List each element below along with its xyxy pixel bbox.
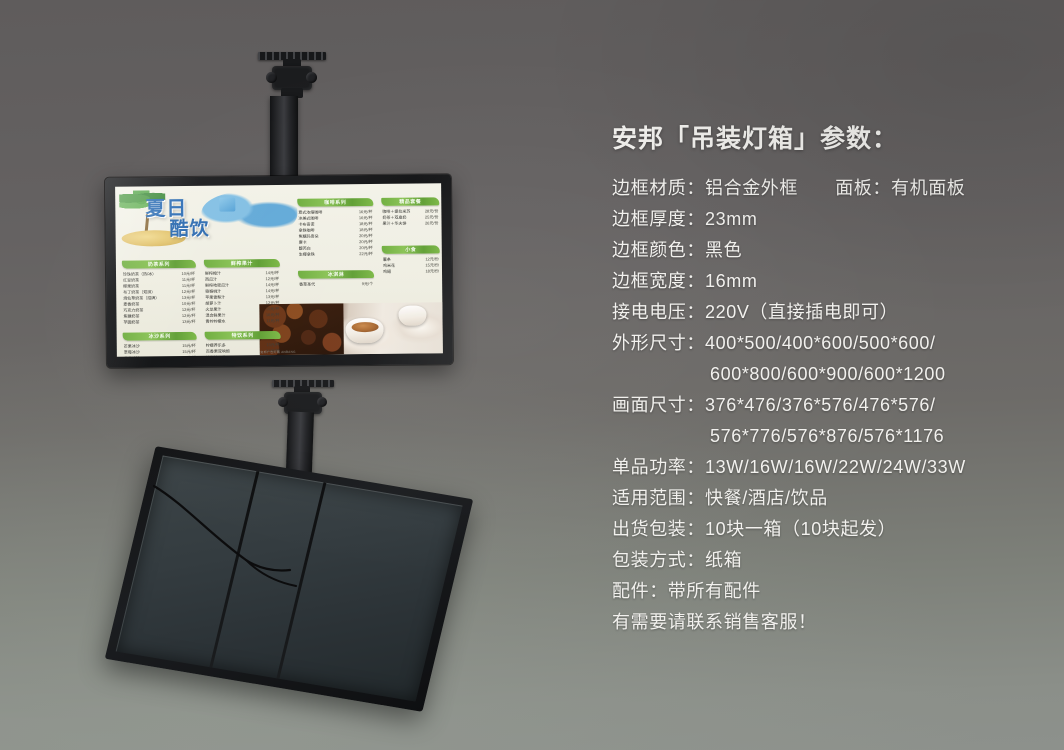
menu-section-heading-text: 奶茶系列 (148, 261, 170, 268)
menu-section-1: 鲜榨果汁 鲜榨橙汁14元/杯西瓜汁12元/杯鲜榨哈密瓜汁14元/杯猕猴桃汁14元… (204, 259, 281, 325)
menu-title-line1: 夏日 (145, 196, 187, 220)
menu-board-artwork: 夏日 酷饮 奶茶系列 珍珠奶茶（热/冰）10元/杯红豆奶茶11元/杯椰果奶茶11… (115, 183, 443, 356)
spec-line: 有需要请联系销售客服！ (612, 607, 1042, 638)
menu-item-row: 鸡翅18元/份 (382, 268, 440, 275)
menu-items-4: 意式浓缩咖啡16元/杯冰美式咖啡16元/杯卡布奇诺18元/杯拿铁咖啡18元/杯焦… (297, 209, 373, 258)
menu-section-2: 冰沙系列 芒果冰沙15元/杯草莓冰沙15元/杯蓝莓冰沙16元/杯抹茶红豆冰沙16… (123, 332, 197, 357)
spec-line-list: 边框材质：铝合金外框 面板：有机面板边框厚度：23mm边框颜色：黑色边框宽度：1… (612, 173, 1042, 638)
spec-title: 安邦「吊装灯箱」参数： (612, 124, 1042, 154)
spec-line: 边框颜色：黑色 (612, 235, 1042, 266)
menu-section-heading-text: 鲜榨果汁 (231, 260, 253, 267)
spec-line: 接电电压：220V（直接插电即可） (612, 297, 1042, 328)
spec-line: 单品功率：13W/16W/16W/22W/24W/33W (612, 452, 1042, 483)
menu-title-line2: 酷饮 (169, 220, 209, 239)
menu-item-name: 青柠柠檬水 (205, 319, 225, 325)
mount-pole-upper (270, 96, 298, 182)
menu-item-price: 18元/份 (425, 268, 439, 274)
light-box-display-front: 夏日 酷饮 奶茶系列 珍珠奶茶（热/冰）10元/杯红豆奶茶11元/杯椰果奶茶11… (105, 174, 453, 368)
menu-items-5: 咖啡＋提拉米苏28元/份奶茶＋双皮奶25元/份果汁＋华夫饼26元/份 (381, 208, 439, 227)
menu-section-heading: 特饮系列 (205, 331, 281, 340)
menu-item-price: 9元/个 (362, 281, 373, 287)
menu-section-heading-text: 特饮系列 (232, 332, 254, 339)
coffee-photo (260, 302, 443, 355)
menu-item-price: 11元/杯 (266, 318, 279, 324)
menu-item-name: 蜂蜜柚子茶 (206, 355, 226, 357)
coffee-cup-front (346, 318, 384, 343)
spec-text-panel: 安邦「吊装灯箱」参数： 边框材质：铝合金外框 面板：有机面板边框厚度：23mm边… (612, 124, 1042, 638)
menu-section-heading-text: 冰淇淋 (328, 271, 345, 278)
menu-item-price: 16元/杯 (182, 355, 196, 357)
menu-items-0: 珍珠奶茶（热/冰）10元/杯红豆奶茶11元/杯椰果奶茶11元/杯布丁奶茶（双拼）… (122, 271, 197, 326)
spec-line: 边框宽度：16mm (612, 266, 1042, 297)
menu-section-6: 小食 薯条12元/份鸡米花15元/份鸡翅18元/份 (382, 245, 440, 275)
menu-item-price: 22元/杯 (359, 251, 373, 257)
menu-section-5: 精品套餐 咖啡＋提拉米苏28元/份奶茶＋双皮奶25元/份果汁＋华夫饼26元/份 (381, 197, 439, 227)
menu-item-price: 14元/杯 (266, 354, 280, 357)
spec-line: 外形尺寸：400*500/400*600/500*600/ (612, 328, 1042, 359)
coffee-cup-back (399, 306, 427, 326)
menu-item-row: 生椰拿铁22元/杯 (298, 251, 374, 258)
coffee-crema (351, 322, 378, 333)
light-box-back-panel (105, 446, 474, 712)
menu-item-row: 蜂蜜柚子茶14元/杯 (205, 354, 281, 357)
product-photo-scene: 夏日 酷饮 奶茶系列 珍珠奶茶（热/冰）10元/杯红豆奶茶11元/杯椰果奶茶11… (0, 0, 1064, 750)
menu-item-name: 蓝莓冰沙 (124, 355, 140, 356)
mount-pivot-knob-right-upper (306, 72, 317, 83)
water-splash (201, 191, 297, 238)
menu-item-name: 生椰拿铁 (299, 252, 315, 258)
menu-section-heading-text: 小食 (405, 246, 416, 253)
mount-pivot-knob-left-lower (278, 397, 288, 407)
menu-item-row: 蓝莓冰沙16元/杯 (123, 355, 197, 357)
menu-section-heading-text: 咖啡系列 (324, 199, 346, 206)
mount-pivot-knob-right-lower (317, 397, 327, 407)
menu-section-heading: 奶茶系列 (122, 260, 196, 269)
menu-section-heading: 小食 (382, 245, 440, 254)
menu-item-price: 26元/份 (425, 220, 439, 226)
menu-items-6: 薯条12元/份鸡米花15元/份鸡翅18元/份 (382, 256, 440, 275)
spec-line: 600*800/600*900/600*1200 (612, 359, 1042, 390)
menu-item-price: 13元/杯 (182, 319, 196, 325)
menu-section-4: 咖啡系列 意式浓缩咖啡16元/杯冰美式咖啡16元/杯卡布奇诺18元/杯拿铁咖啡1… (297, 198, 374, 258)
menu-item-name: 芋圆奶茶 (124, 319, 140, 325)
spec-line: 适用范围：快餐/酒店/饮品 (612, 483, 1042, 514)
menu-items-1: 鲜榨橙汁14元/杯西瓜汁12元/杯鲜榨哈密瓜汁14元/杯猕猴桃汁14元/杯苹果雪… (204, 270, 281, 325)
spec-line: 576*776/576*876/576*1176 (612, 421, 1042, 452)
menu-item-row: 果汁＋华夫饼26元/份 (381, 220, 439, 227)
menu-item-name: 果汁＋华夫饼 (382, 221, 406, 227)
menu-item-row: 芋圆奶茶13元/杯 (123, 319, 197, 326)
spec-line: 画面尺寸：376*476/376*576/476*576/ (612, 390, 1042, 421)
menu-item-row: 香草圣代9元/个 (298, 281, 374, 288)
ice-cube-icon (219, 197, 235, 211)
spec-line: 出货包装：10块一箱（10块起发） (612, 514, 1042, 545)
menu-section-heading: 精品套餐 (381, 197, 439, 206)
menu-section-heading: 冰淇淋 (298, 270, 374, 279)
menu-section-heading: 冰沙系列 (123, 332, 197, 341)
menu-item-name: 鸡翅 (383, 269, 391, 275)
menu-title: 夏日 酷饮 (145, 198, 209, 240)
menu-section-heading: 咖啡系列 (297, 198, 373, 207)
menu-item-row: 青柠柠檬水11元/杯 (204, 318, 280, 325)
spec-line: 配件：带所有配件 (612, 576, 1042, 607)
spec-line: 边框厚度：23mm (612, 204, 1042, 235)
menu-items-7: 香草圣代9元/个 (298, 281, 374, 288)
menu-item-name: 香草圣代 (299, 282, 315, 288)
beach-illustration (115, 185, 305, 255)
spec-line: 包装方式：纸箱 (612, 545, 1042, 576)
menu-section-7: 冰淇淋 香草圣代9元/个 (298, 270, 374, 288)
menu-section-0: 奶茶系列 珍珠奶茶（热/冰）10元/杯红豆奶茶11元/杯椰果奶茶11元/杯布丁奶… (122, 260, 197, 326)
spec-line: 边框材质：铝合金外框 面板：有机面板 (612, 173, 1042, 204)
mount-pivot-knob-left-upper (266, 72, 277, 83)
menu-section-heading: 鲜榨果汁 (204, 259, 280, 268)
menu-section-heading-text: 冰沙系列 (149, 333, 171, 340)
menu-items-2: 芒果冰沙15元/杯草莓冰沙15元/杯蓝莓冰沙16元/杯抹茶红豆冰沙16元/杯奥利… (123, 343, 197, 357)
brand-line: 安邦广告灯箱 ANBANG (260, 350, 295, 354)
menu-section-heading-text: 精品套餐 (399, 198, 421, 205)
